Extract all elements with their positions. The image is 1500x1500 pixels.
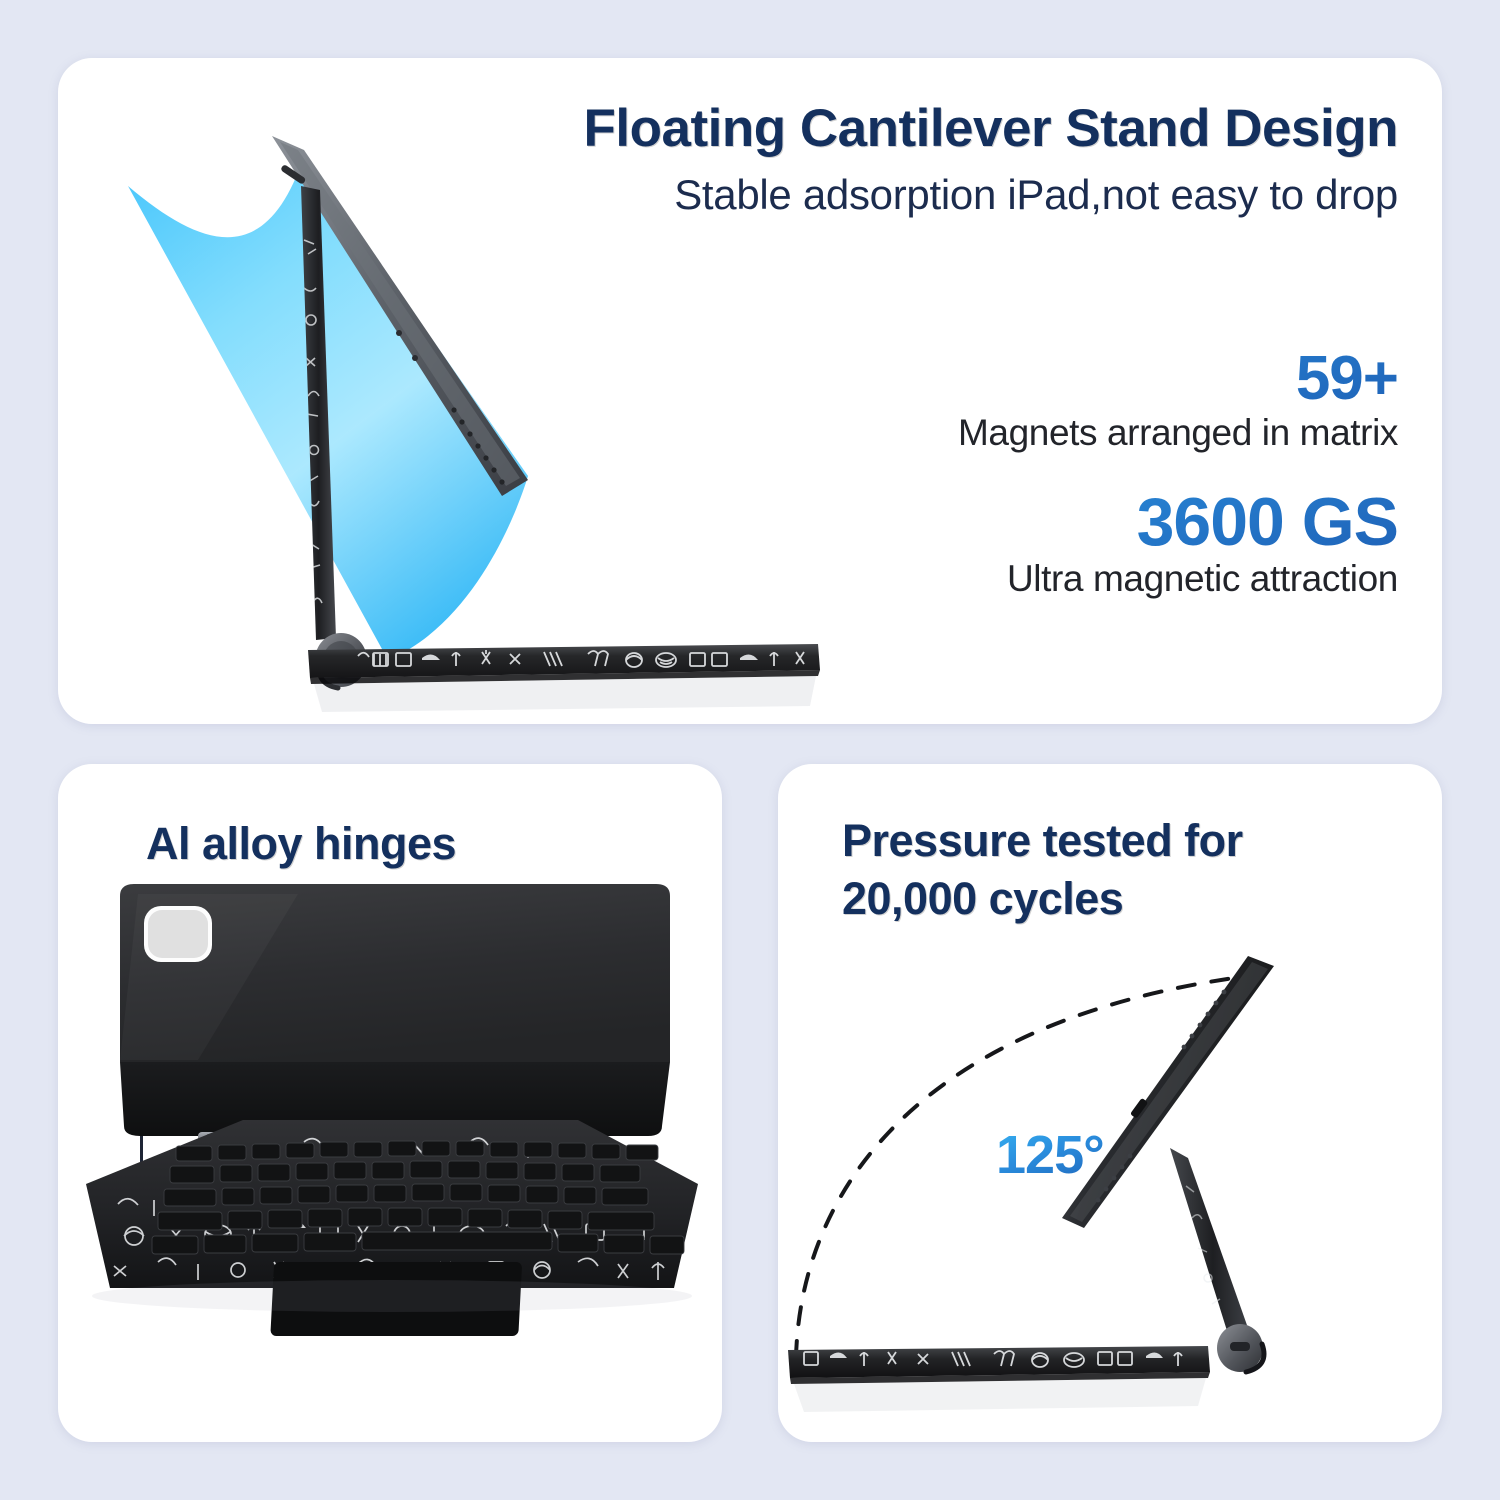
infographic-canvas: Floating Cantilever Stand Design Stable … <box>0 0 1500 1500</box>
panel-floating-cantilever-stand: Floating Cantilever Stand Design Stable … <box>58 58 1442 724</box>
page-title: Floating Cantilever Stand Design <box>488 100 1398 157</box>
stat-magnets-value: 59+ <box>488 348 1398 410</box>
pressure-title-line1: Pressure tested for <box>842 812 1243 870</box>
tilt-angle-label: 125° <box>996 1124 1104 1186</box>
panel-al-alloy-hinges: Al alloy hinges <box>58 764 722 1442</box>
top-text-block: Floating Cantilever Stand Design Stable … <box>488 100 1398 219</box>
stat-gauss-caption: Ultra magnetic attraction <box>488 558 1398 600</box>
hinge-callout-leader-line <box>140 884 256 1276</box>
tilt-arc-illustration <box>778 942 1442 1442</box>
panel-pressure-tested: Pressure tested for 20,000 cycles <box>778 764 1442 1442</box>
pressure-title: Pressure tested for 20,000 cycles <box>842 812 1243 927</box>
hinges-title: Al alloy hinges <box>146 820 456 869</box>
stat-gauss: 3600 GS Ultra magnetic attraction <box>488 488 1398 600</box>
page-subtitle: Stable adsorption iPad,not easy to drop <box>488 171 1398 219</box>
pressure-title-line2: 20,000 cycles <box>842 870 1243 928</box>
stat-magnets-caption: Magnets arranged in matrix <box>488 412 1398 454</box>
stats-list: 59+ Magnets arranged in matrix 3600 GS U… <box>488 348 1398 634</box>
stat-gauss-value: 3600 GS <box>488 488 1398 556</box>
stat-magnets: 59+ Magnets arranged in matrix <box>488 348 1398 454</box>
